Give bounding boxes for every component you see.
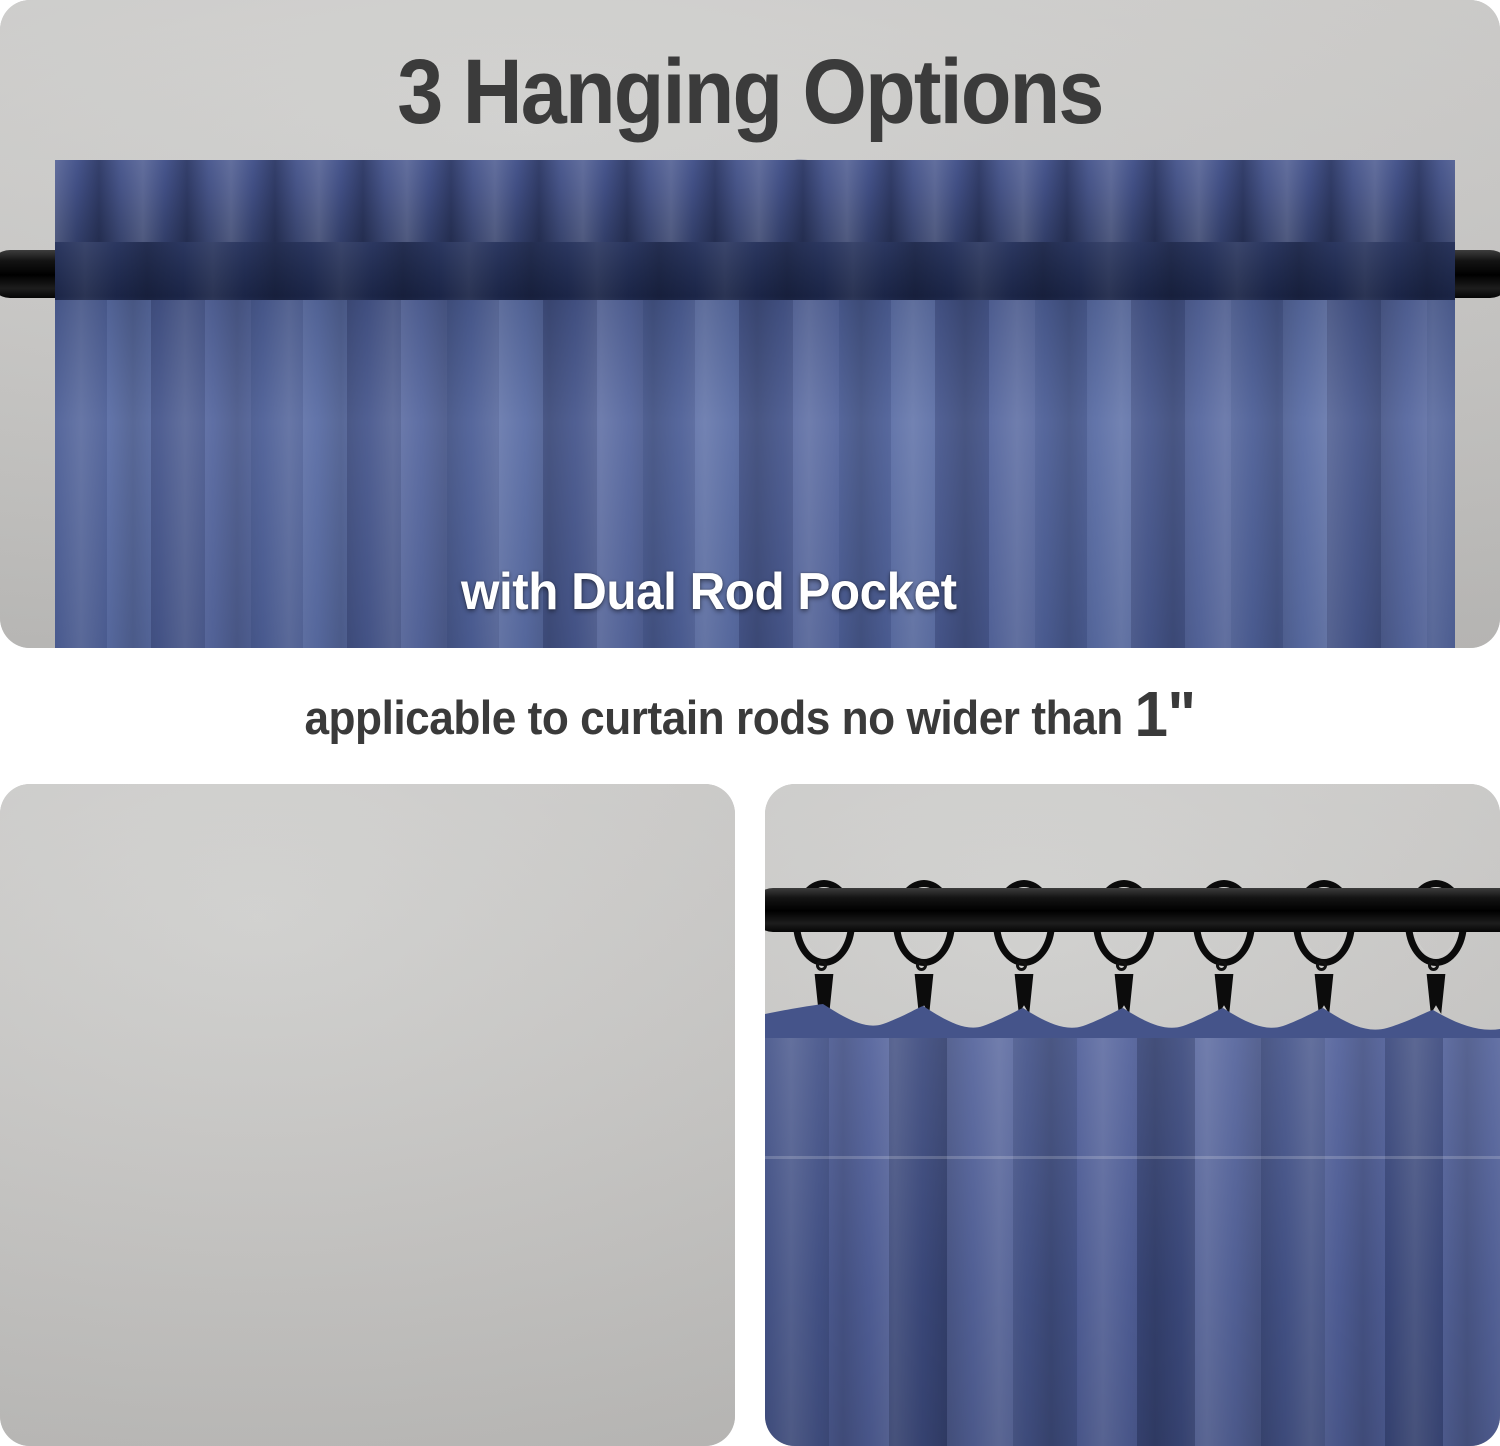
ring-eyelet	[1428, 960, 1439, 971]
ring-eyelet	[1016, 960, 1027, 971]
subtitle-line: applicable to curtain rods no wider than…	[304, 677, 1195, 751]
curtain-fabric	[765, 1038, 1500, 1446]
ring-eyelet	[1216, 960, 1227, 971]
curtain-seam	[765, 1156, 1500, 1159]
infographic-root: with Dual Rod Pocket 3 Hanging Options a…	[0, 0, 1500, 1446]
ring-eyelet	[816, 960, 827, 971]
ring-eyelet	[916, 960, 927, 971]
caption-dual-rod-pocket: with Dual Rod Pocket	[461, 562, 957, 622]
subtitle-strip: applicable to curtain rods no wider than…	[0, 650, 1500, 778]
ruffle-header	[55, 160, 1455, 255]
panel-pole-top: Pole Top -with bottom hem	[0, 784, 735, 1446]
panel-clips: with Clips(not included)	[765, 784, 1500, 1446]
curtain-rod	[765, 888, 1500, 932]
ring-eyelet	[1116, 960, 1127, 971]
fabric-pleats	[765, 1038, 1500, 1446]
panel-backdrop	[0, 784, 735, 1446]
ring-eyelet	[1316, 960, 1327, 971]
subtitle-text: applicable to curtain rods no wider than	[304, 691, 1122, 744]
page-title: 3 Hanging Options	[75, 40, 1425, 145]
subtitle-measurement: 1"	[1135, 678, 1196, 750]
